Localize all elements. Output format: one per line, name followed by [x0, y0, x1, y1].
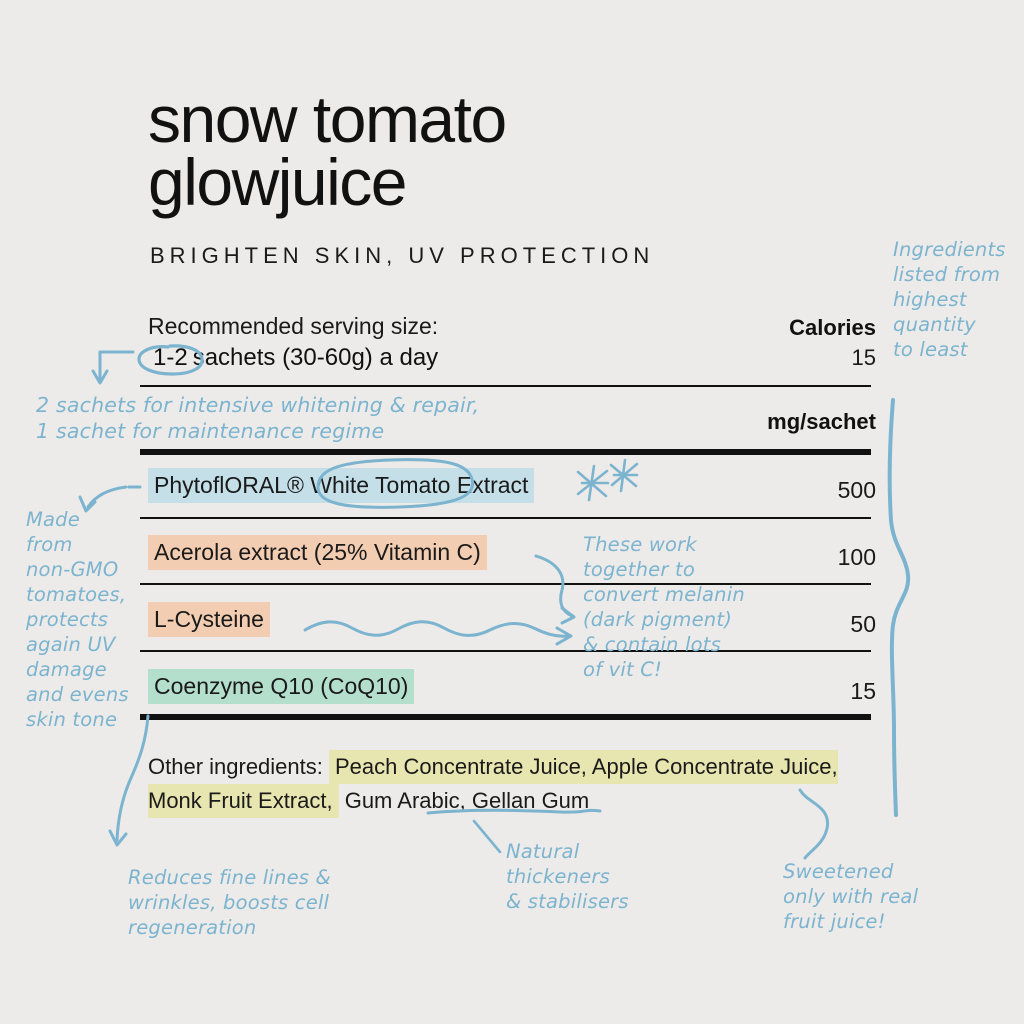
calories-value: 15	[852, 345, 876, 371]
annotation-serving-note: 2 sachets for intensive whitening & repa…	[36, 392, 479, 444]
ingredient-amount: 500	[838, 477, 876, 504]
arrow-coq10-head	[110, 831, 126, 845]
connector-acerola	[536, 556, 572, 616]
ingredient-name: Acerola extract (25% Vitamin C)	[148, 535, 487, 570]
arrow-serving-note	[100, 352, 133, 380]
connector-acerola-head	[562, 608, 574, 623]
divider-row-2	[140, 583, 871, 585]
ingredient-row: PhytoflORAL® White Tomato Extract	[148, 472, 534, 499]
title-line-2: glowjuice	[148, 151, 506, 214]
other-ingredients-plain: Gum Arabic, Gellan Gum	[339, 788, 590, 813]
serving-size-label: Recommended serving size:	[148, 313, 438, 340]
annotation-thickeners-note: Natural thickeners & stabilisers	[506, 840, 629, 915]
ingredient-amount: 15	[850, 678, 876, 705]
serving-size-value: 1-2sachets (30-60g) a day	[148, 344, 438, 372]
ingredient-name: PhytoflORAL® White Tomato Extract	[148, 468, 534, 503]
divider-row-1	[140, 517, 871, 519]
other-ingredients-prefix: Other ingredients:	[148, 754, 329, 779]
ingredient-row: Coenzyme Q10 (CoQ10)	[148, 673, 414, 700]
ingredient-name: Coenzyme Q10 (CoQ10)	[148, 669, 414, 704]
annotation-coq10-note: Reduces fine lines & wrinkles, boosts ce…	[128, 866, 331, 941]
ingredient-amount: 50	[850, 611, 876, 638]
ingredient-row: L-Cysteine	[148, 606, 270, 633]
serving-size-amount: 1-2	[148, 344, 193, 371]
bracket-ingredient-order	[890, 400, 909, 815]
ingredient-name: L-Cysteine	[148, 602, 270, 637]
nutrition-label-page: snow tomato glowjuice BRIGHTEN SKIN, UV …	[0, 0, 1024, 1024]
ingredient-amount: 100	[838, 544, 876, 571]
sparkle-icon	[611, 460, 637, 491]
annotation-melanin-note: These work together to convert melanin (…	[583, 533, 745, 683]
connector-thickeners	[474, 821, 500, 852]
divider-row-3	[140, 650, 871, 652]
annotation-sweetener-note: Sweetened only with real fruit juice!	[783, 860, 918, 935]
arrow-serving-note-head	[93, 371, 107, 383]
unit-label: mg/sachet	[767, 409, 876, 435]
annotation-ordering-note: Ingredients listed from highest quantity…	[893, 238, 1006, 363]
sparkle-icon	[578, 466, 608, 500]
connector-lcysteine-head	[557, 628, 571, 644]
ingredient-row: Acerola extract (25% Vitamin C)	[148, 539, 487, 566]
calories-label: Calories	[789, 315, 876, 341]
divider-thick-bottom	[140, 714, 871, 720]
divider-thick-top	[140, 449, 871, 455]
other-ingredients: Other ingredients: Peach Concentrate Jui…	[148, 750, 888, 818]
connector-lcysteine	[305, 622, 568, 637]
divider-top	[140, 385, 871, 387]
page-title: snow tomato glowjuice	[148, 88, 506, 215]
subtitle: BRIGHTEN SKIN, UV PROTECTION	[150, 243, 654, 269]
annotation-tomato-note: Made from non-GMO tomatoes, protects aga…	[26, 508, 129, 733]
title-line-1: snow tomato	[148, 88, 506, 151]
bracket-coq10	[117, 716, 148, 840]
serving-size-rest: sachets (30-60g) a day	[193, 344, 438, 371]
arrow-tomato-note-curve	[88, 487, 126, 507]
